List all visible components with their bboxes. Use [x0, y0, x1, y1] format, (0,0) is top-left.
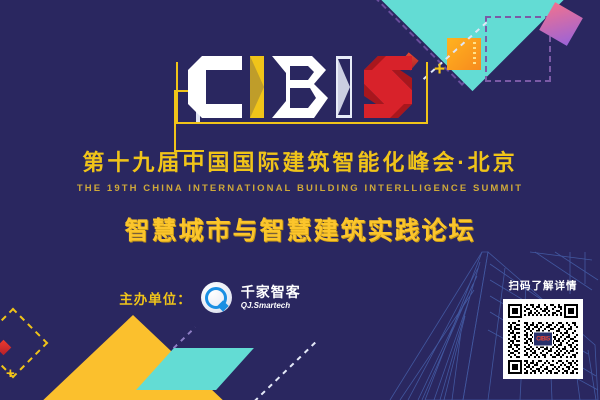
cibis-wordmark	[186, 56, 414, 118]
q-ring-shape	[205, 287, 227, 309]
plus-sign-icon-bottom: +	[6, 366, 15, 381]
organizer-name-group: 千家智客 QJ.Smartech	[241, 285, 301, 310]
organizer-name-cn: 千家智客	[241, 285, 301, 299]
cibis-logo-block: CIBIS	[0, 52, 600, 134]
organizer-block: 主办单位： 千家智客 QJ.Smartech	[0, 282, 420, 313]
qr-caption: 扫码了解详情	[500, 278, 586, 293]
pink-dot-decoration	[82, 355, 106, 379]
dotted-line-decoration-center	[239, 342, 316, 400]
red-dot-decoration	[0, 340, 11, 356]
summit-title-en: THE 19TH CHINA INTERNATIONAL BUILDING IN…	[0, 183, 600, 194]
summit-title-cn: 第十九届中国国际建筑智能化峰会·北京	[0, 148, 600, 178]
dotted-line-decoration-left	[108, 327, 196, 400]
qr-center-brand-text: CIBIS	[536, 336, 550, 342]
qr-center-brand-mark: CIBIS	[533, 332, 553, 347]
yellow-triangle-decoration	[38, 315, 228, 400]
forum-title: 智慧城市与智慧建筑实践论坛	[0, 211, 600, 247]
organizer-label: 主办单位：	[119, 288, 192, 308]
headline-block: 第十九届中国国际建筑智能化峰会·北京 THE 19TH CHINA INTERN…	[0, 148, 600, 247]
organizer-name-en: QJ.Smartech	[241, 302, 301, 310]
yellow-dashed-diamond-decoration	[0, 308, 48, 379]
qr-code[interactable]: CIBIS	[503, 299, 583, 379]
q-circle-icon	[201, 282, 232, 313]
event-poster: + +	[0, 0, 600, 400]
qr-block: 扫码了解详情	[500, 278, 586, 379]
cyan-parallelogram-decoration	[136, 348, 254, 390]
pink-gradient-diamond-decoration	[539, 2, 583, 46]
